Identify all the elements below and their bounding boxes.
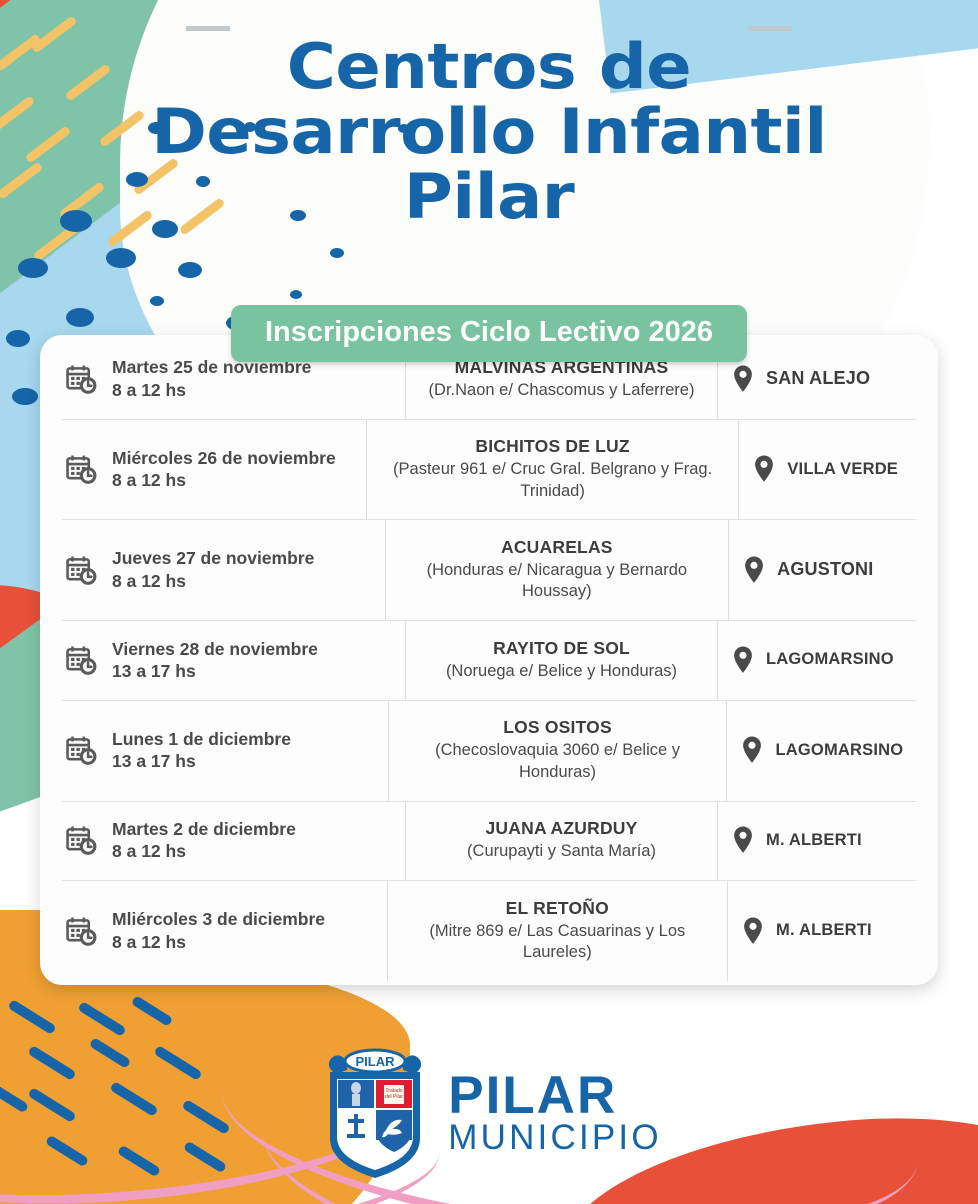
row-center-address: (Mitre 869 e/ Las Casuarinas y Los Laure… [402, 921, 713, 964]
row-date-cell: Lunes 1 de diciembre13 a 17 hs [60, 728, 388, 773]
row-date-day: Mliércoles 3 de diciembre [112, 909, 325, 929]
row-location-cell: AGUSTONI [729, 556, 918, 584]
row-location-name: LAGOMARSINO [766, 650, 894, 669]
row-location-name: AGUSTONI [777, 559, 873, 580]
calendar-clock-icon [64, 452, 98, 486]
decor-dot-blue [106, 248, 136, 268]
brand-pilar: PILAR [448, 1072, 662, 1121]
footer-logo: Tratado del Pilar PILAR PILAR MUNICIPIO [0, 1044, 978, 1182]
row-date-day: Miércoles 26 de noviembre [112, 448, 336, 468]
table-row: Jueves 27 de noviembre8 a 12 hsACUARELAS… [40, 519, 938, 620]
row-center-address: (Pasteur 961 e/ Cruc Gral. Belgrano y Fr… [381, 459, 724, 502]
map-pin-icon [753, 455, 775, 483]
row-time: 13 a 17 hs [112, 751, 196, 771]
row-date-day: Viernes 28 de noviembre [112, 639, 318, 659]
pilar-coat-of-arms-icon: Tratado del Pilar PILAR [316, 1044, 434, 1182]
row-date-text: Miércoles 26 de noviembre8 a 12 hs [112, 447, 336, 492]
row-location-cell: M. ALBERTI [728, 917, 918, 945]
row-time: 8 a 12 hs [112, 841, 186, 861]
row-center-name: JUANA AZURDUY [486, 818, 638, 839]
row-time: 8 a 12 hs [112, 571, 186, 591]
row-date-cell: Miércoles 26 de noviembre8 a 12 hs [60, 447, 366, 492]
row-center-cell: JUANA AZURDUY(Curupayti y Santa María) [405, 801, 718, 881]
row-location-cell: LAGOMARSINO [718, 646, 918, 674]
decor-dash-blue [7, 999, 56, 1035]
ribbon-container: Inscripciones Ciclo Lectivo 2026 [0, 305, 978, 362]
row-center-address: (Dr.Naon e/ Chascomus y Laferrere) [429, 380, 695, 401]
decor-dot-blue [12, 388, 38, 405]
row-center-name: EL RETOÑO [506, 898, 609, 919]
svg-text:PILAR: PILAR [356, 1054, 396, 1069]
row-center-address: (Curupayti y Santa María) [467, 841, 656, 862]
decor-dot-blue [178, 262, 202, 278]
map-pin-icon [741, 736, 763, 764]
row-time: 8 a 12 hs [112, 380, 186, 400]
calendar-clock-icon [64, 914, 98, 948]
poster-canvas: Centros de Desarrollo Infantil Pilar Ins… [0, 0, 978, 1204]
map-pin-icon [742, 917, 764, 945]
row-date-day: Jueves 27 de noviembre [112, 548, 314, 568]
row-center-address: (Noruega e/ Belice y Honduras) [446, 661, 677, 682]
brand-text: PILAR MUNICIPIO [448, 1072, 662, 1155]
schedule-rows: Martes 25 de noviembre8 a 12 hsMALVINAS … [40, 335, 938, 985]
title-line-3: Pilar [0, 168, 978, 227]
calendar-clock-icon [64, 362, 98, 396]
row-center-name: BICHITOS DE LUZ [475, 436, 629, 457]
row-time: 8 a 12 hs [112, 932, 186, 952]
decor-dash-blue [77, 1001, 126, 1037]
row-center-name: LOS OSITOS [503, 717, 612, 738]
row-center-cell: LOS OSITOS(Checoslovaquia 3060 e/ Belice… [388, 700, 728, 801]
row-center-name: ACUARELAS [501, 537, 613, 558]
table-row: Viernes 28 de noviembre13 a 17 hsRAYITO … [40, 620, 938, 700]
row-date-text: Mliércoles 3 de diciembre8 a 12 hs [112, 908, 325, 953]
row-date-text: Martes 2 de diciembre8 a 12 hs [112, 818, 296, 863]
title-line-1: Centros de [0, 38, 978, 97]
row-location-name: VILLA VERDE [787, 460, 898, 479]
table-row: Martes 2 de diciembre8 a 12 hsJUANA AZUR… [40, 801, 938, 881]
calendar-clock-icon [64, 643, 98, 677]
ribbon-tail-left [186, 26, 230, 31]
decor-dot-blue [18, 258, 48, 278]
title-line-2: Desarrollo Infantil [0, 103, 978, 162]
row-date-day: Lunes 1 de diciembre [112, 729, 291, 749]
row-date-cell: Mliércoles 3 de diciembre8 a 12 hs [60, 908, 387, 953]
row-date-text: Jueves 27 de noviembre8 a 12 hs [112, 547, 314, 592]
row-date-text: Martes 25 de noviembre8 a 12 hs [112, 356, 311, 401]
decor-dot-blue [290, 290, 302, 299]
row-center-cell: BICHITOS DE LUZ(Pasteur 961 e/ Cruc Gral… [366, 419, 739, 520]
calendar-clock-icon [64, 553, 98, 587]
map-pin-icon [732, 365, 754, 393]
row-date-day: Martes 2 de diciembre [112, 819, 296, 839]
table-row: Mliércoles 3 de diciembre8 a 12 hsEL RET… [40, 880, 938, 981]
row-location-cell: VILLA VERDE [739, 455, 918, 483]
row-time: 13 a 17 hs [112, 661, 196, 681]
row-location-cell: LAGOMARSINO [727, 736, 918, 764]
row-location-name: M. ALBERTI [766, 831, 862, 850]
row-location-name: LAGOMARSINO [775, 741, 903, 760]
row-time: 8 a 12 hs [112, 470, 186, 490]
row-center-address: (Honduras e/ Nicaragua y Bernardo Houssa… [400, 560, 715, 603]
decor-dot-blue [330, 248, 344, 258]
decor-dash-blue [131, 995, 174, 1027]
table-row: Lunes 1 de diciembre13 a 17 hsLOS OSITOS… [40, 700, 938, 801]
subtitle-banner: Inscripciones Ciclo Lectivo 2026 [231, 305, 747, 362]
schedule-card: Martes 25 de noviembre8 a 12 hsMALVINAS … [40, 335, 938, 985]
row-date-text: Lunes 1 de diciembre13 a 17 hs [112, 728, 291, 773]
row-date-text: Viernes 28 de noviembre13 a 17 hs [112, 638, 318, 683]
row-location-cell: M. ALBERTI [718, 826, 918, 854]
row-location-name: SAN ALEJO [766, 368, 870, 389]
row-date-cell: Jueves 27 de noviembre8 a 12 hs [60, 547, 385, 592]
row-center-cell: RAYITO DE SOL(Noruega e/ Belice y Hondur… [405, 620, 718, 700]
row-center-name: RAYITO DE SOL [493, 638, 630, 659]
row-location-name: M. ALBERTI [776, 921, 872, 940]
map-pin-icon [732, 646, 754, 674]
row-date-cell: Martes 2 de diciembre8 a 12 hs [60, 818, 405, 863]
row-location-cell: SAN ALEJO [718, 365, 918, 393]
row-center-cell: ACUARELAS(Honduras e/ Nicaragua y Bernar… [385, 519, 730, 620]
calendar-clock-icon [64, 823, 98, 857]
page-title: Centros de Desarrollo Infantil Pilar [0, 38, 978, 227]
table-row: Miércoles 26 de noviembre8 a 12 hsBICHIT… [40, 419, 938, 520]
row-date-cell: Viernes 28 de noviembre13 a 17 hs [60, 638, 405, 683]
svg-text:del Pilar: del Pilar [385, 1094, 403, 1100]
row-date-cell: Martes 25 de noviembre8 a 12 hs [60, 356, 405, 401]
map-pin-icon [743, 556, 765, 584]
row-center-address: (Checoslovaquia 3060 e/ Belice y Hondura… [403, 740, 713, 783]
ribbon-tail-right [748, 26, 792, 31]
calendar-clock-icon [64, 733, 98, 767]
brand-municipio: MUNICIPIO [448, 1122, 662, 1154]
row-center-cell: EL RETOÑO(Mitre 869 e/ Las Casuarinas y … [387, 880, 728, 981]
map-pin-icon [732, 826, 754, 854]
